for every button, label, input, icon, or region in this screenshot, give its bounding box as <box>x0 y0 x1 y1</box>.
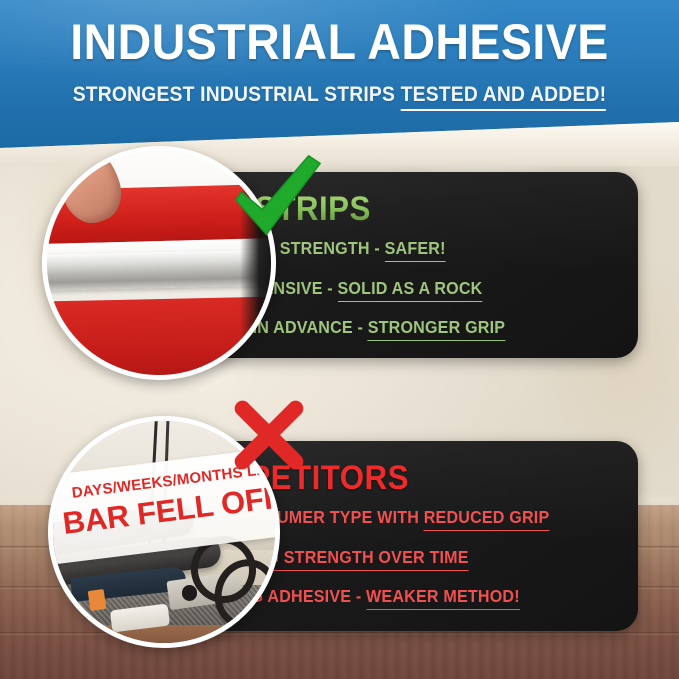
bullet-emphasis: SAFER! <box>385 238 446 262</box>
green-check-icon <box>228 150 324 246</box>
bullet-emphasis: WEAKER METHOD! <box>366 586 520 610</box>
bullet-emphasis: STRONGER GRIP <box>368 317 505 341</box>
infographic-canvas: INDUSTRIAL ADHESIVE STRONGEST INDUSTRIAL… <box>0 0 679 679</box>
red-x-icon <box>230 396 308 474</box>
subtitle-plain-text: STRONGEST INDUSTRIAL STRIPS <box>73 83 401 106</box>
orange-handle <box>87 589 105 611</box>
subtitle-underlined-text: TESTED AND ADDED! <box>401 83 607 111</box>
scissors-pivot <box>182 585 198 601</box>
bullet-emphasis: SOLID AS A ROCK <box>337 278 482 302</box>
bullet-emphasis: REDUCED GRIP <box>424 507 550 531</box>
page-subtitle: STRONGEST INDUSTRIAL STRIPS TESTED AND A… <box>27 84 652 105</box>
page-title: INDUSTRIAL ADHESIVE <box>24 17 655 67</box>
